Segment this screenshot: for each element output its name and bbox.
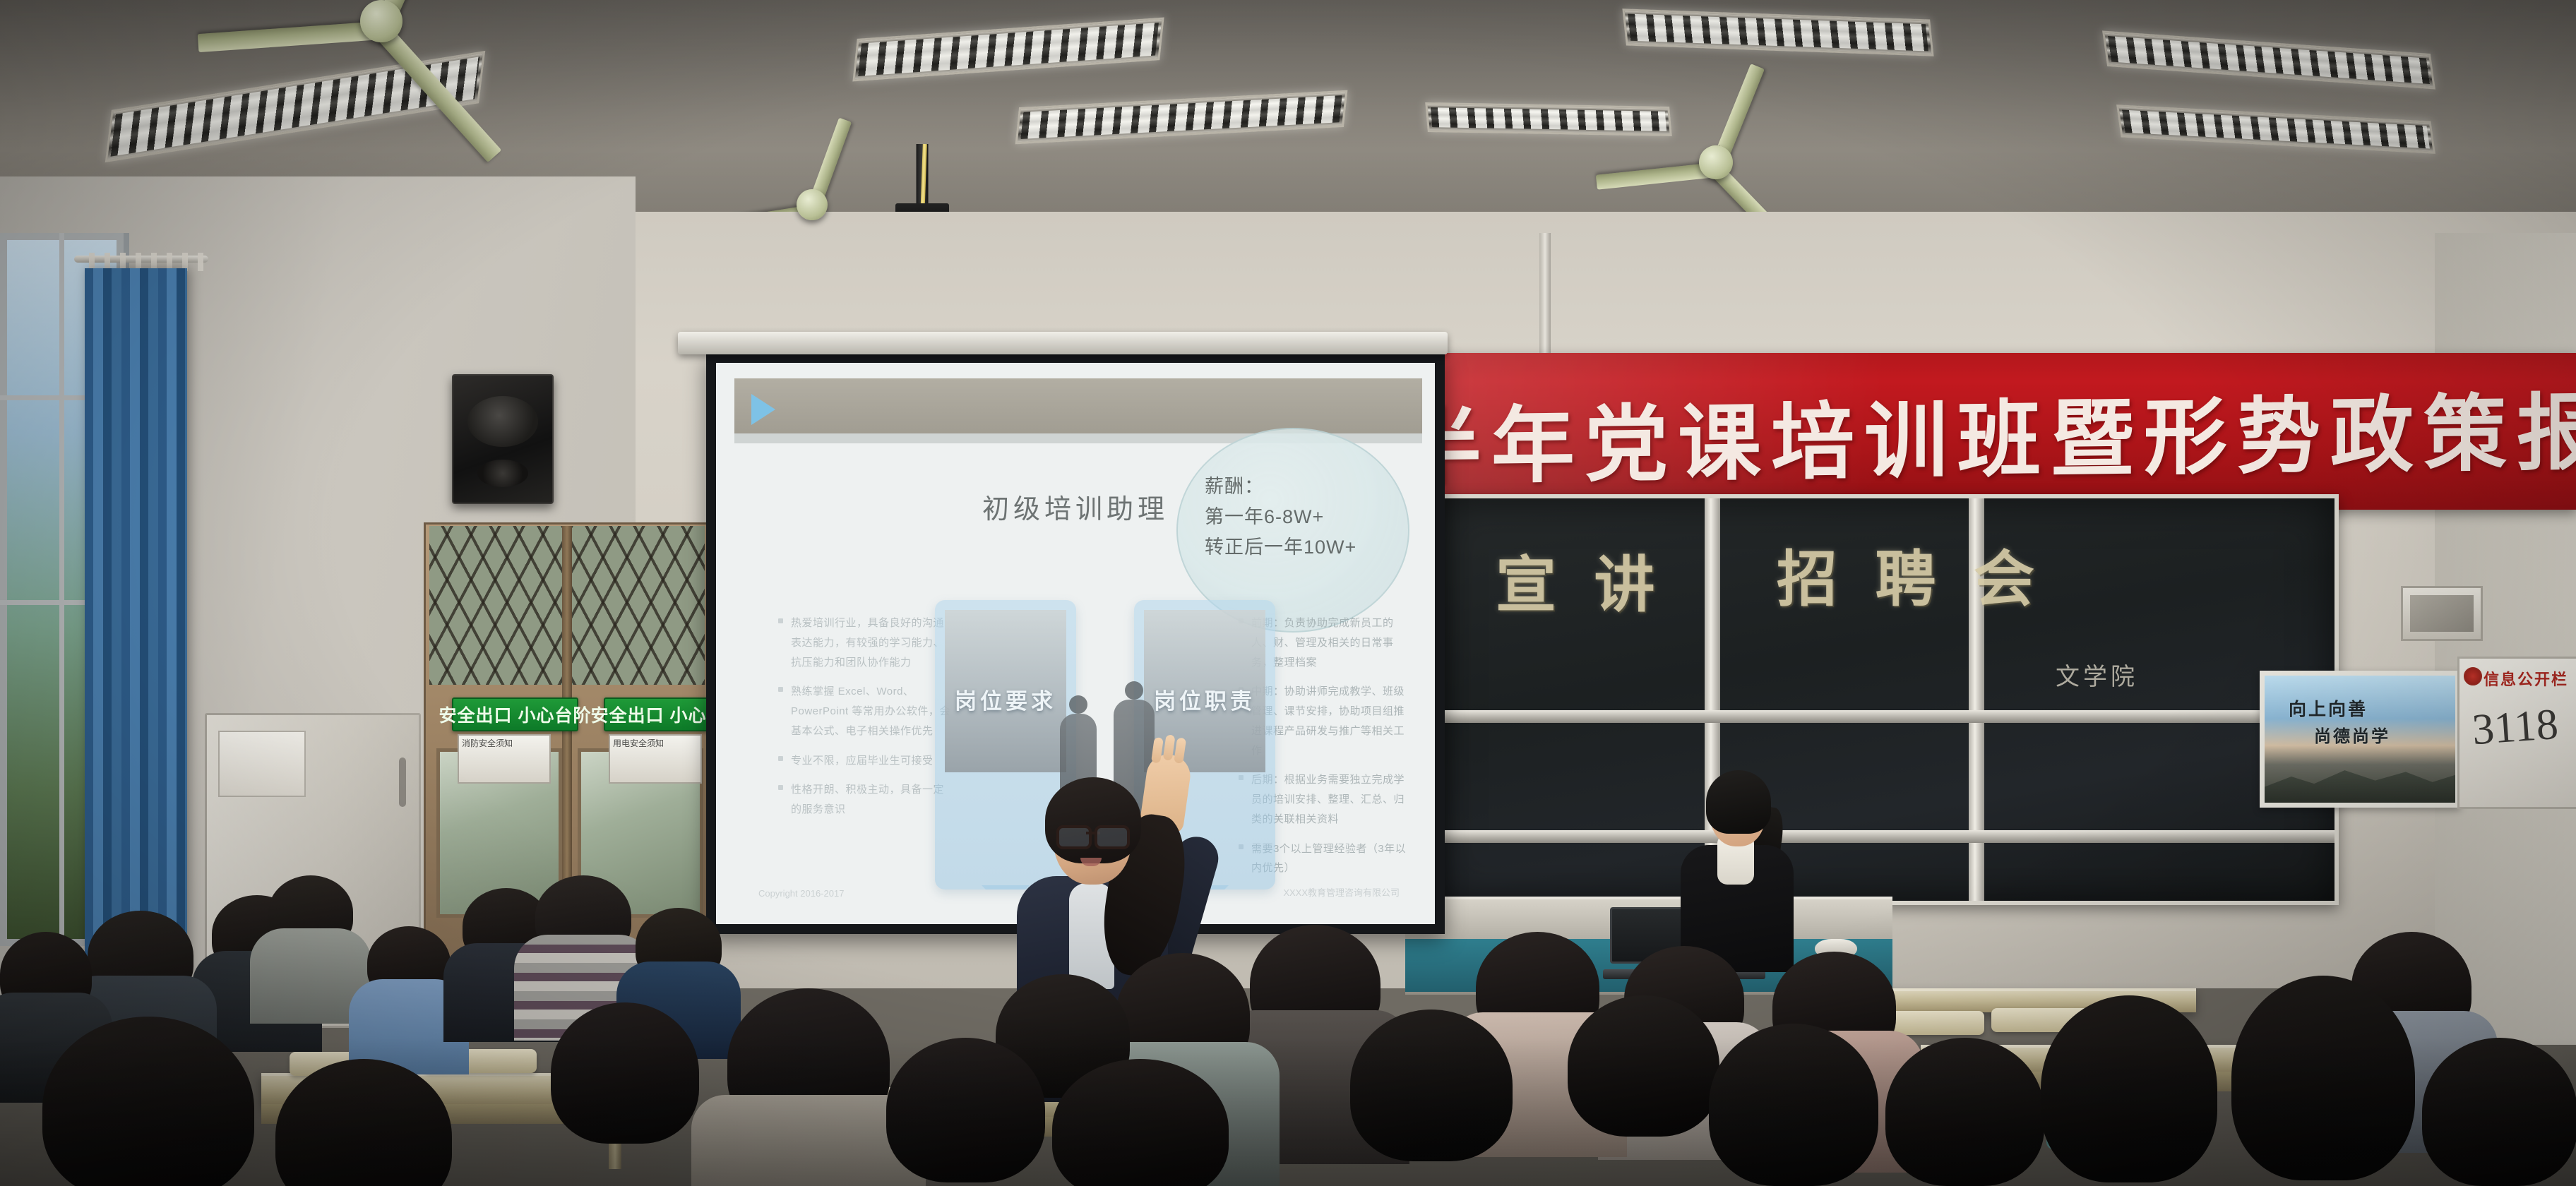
fan-hub [797, 189, 828, 220]
cabinet-label-card [218, 731, 306, 797]
slide-header-band [734, 378, 1422, 433]
audience-hair [1052, 1059, 1229, 1186]
audience-hair [275, 1059, 452, 1186]
audience-member [1885, 1038, 2044, 1186]
play-triangle-icon [751, 394, 775, 425]
audience-member [1709, 1024, 1878, 1186]
information-board-title: 信息公开栏 [2483, 667, 2568, 690]
audience-member [367, 926, 451, 1000]
audience-member [636, 908, 722, 983]
audience-hair [2231, 976, 2415, 1180]
blackboard-chalk-rail [1438, 710, 2334, 723]
audience-hair [1709, 1024, 1878, 1186]
hand-finger [1163, 734, 1176, 760]
audience-hair [1568, 995, 1719, 1137]
fluorescent-troffer [1425, 102, 1672, 136]
audience-member [268, 875, 353, 949]
audience-member [0, 932, 92, 1017]
audience-member [727, 988, 890, 1137]
presenter-hair [1045, 777, 1141, 863]
audience-hair [886, 1038, 1045, 1182]
audience-hair [42, 1017, 254, 1186]
silhouette-head [1125, 681, 1143, 700]
glasses-lens [1095, 825, 1130, 849]
blackboard-headline-left: 宣 讲 [1496, 535, 1666, 623]
seal-icon [2464, 667, 2482, 685]
list-item: 专业不限，应届毕业生可接受 [778, 751, 951, 771]
slide-bullets-left: 热爱培训行业，具备良好的沟通表达能力，有较强的学习能力、抗压能力和团队协作能力 … [750, 613, 951, 829]
assistant [1674, 759, 1801, 964]
hand-finger [1174, 737, 1186, 763]
audience-hair [2422, 1038, 2576, 1186]
room-number: 3118 [2471, 700, 2560, 755]
wall-speaker [452, 374, 554, 504]
classroom-photo-scene: 安全出口 小心台阶 安全出口 小心台阶 消防安全须知 用电安全须知 半年党课培训… [0, 0, 2576, 1186]
red-banner: 半年党课培训班暨形势政策报告 [1419, 353, 2576, 510]
assistant-hair [1706, 770, 1771, 834]
door-notice: 消防安全须知 [458, 734, 551, 784]
exit-sign: 安全出口 小心台阶 [452, 697, 578, 731]
poster-line-1: 向上向善 [2289, 695, 2368, 721]
salary-label: 薪酬： [1205, 472, 1393, 502]
audience-member [275, 1059, 452, 1186]
audience-member [2041, 995, 2217, 1182]
window-mullion [59, 233, 64, 946]
blackboard-headline-right: 招 聘 会 [1777, 529, 2046, 618]
list-item: 热爱培训行业，具备良好的沟通表达能力，有较强的学习能力、抗压能力和团队协作能力 [778, 613, 951, 672]
glasses-lens [1056, 825, 1092, 849]
salary-line-2: 转正后一年10W+ [1205, 532, 1393, 563]
fan-hub [1699, 145, 1733, 179]
audience-member [42, 1017, 254, 1186]
slide-footer-right: XXXX教育管理咨询有限公司 [1283, 885, 1400, 899]
audience-hair [551, 1002, 699, 1144]
salary-line-1: 第一年6-8W+ [1205, 502, 1393, 532]
audience-member [1350, 1010, 1513, 1161]
audience-member [88, 911, 193, 1001]
slide-footer-left: Copyright 2016-2017 [758, 888, 844, 899]
poster-mountain-graphic [2265, 763, 2455, 803]
motto-poster: 向上向善 尚德尚学 [2260, 671, 2460, 808]
audience-member [1568, 995, 1719, 1137]
audience-member [2422, 1038, 2576, 1186]
window-curtain[interactable] [85, 268, 187, 995]
blackboard-chalk-rail [1438, 830, 2334, 843]
audience-hair [1885, 1038, 2044, 1186]
blackboard-department-label: 文学院 [2056, 657, 2138, 692]
audience-member [535, 875, 631, 957]
hand-finger [1151, 737, 1164, 763]
list-item: 性格开朗、积极主动，具备一定的服务意识 [778, 780, 951, 820]
cabinet-handle[interactable] [399, 757, 406, 807]
silhouette-head [1069, 695, 1087, 714]
poster-line-2: 尚德尚学 [2314, 722, 2390, 747]
audience-hair [2041, 995, 2217, 1182]
blackboard: 宣 讲 招 聘 会 文学院 [1433, 494, 2339, 905]
door-notice: 用电安全须知 [609, 734, 702, 784]
information-board: 信息公开栏 3118 [2457, 657, 2576, 809]
glasses-icon [1056, 825, 1130, 844]
banner-text: 半年党课培训班暨形势政策报告 [1419, 363, 2576, 500]
fan-hub [360, 0, 402, 42]
screen-housing [678, 332, 1448, 354]
wall-control-box [2401, 586, 2483, 641]
audience-member [2231, 976, 2415, 1180]
audience-member [886, 1038, 1045, 1182]
audience-hair [1350, 1010, 1513, 1161]
audience-member [1052, 1059, 1229, 1186]
audience-member [551, 1002, 699, 1144]
audience-member [1116, 953, 1250, 1077]
list-item: 熟练掌握 Excel、Word、PowerPoint 等常用办公软件，会基本公式… [778, 682, 951, 741]
